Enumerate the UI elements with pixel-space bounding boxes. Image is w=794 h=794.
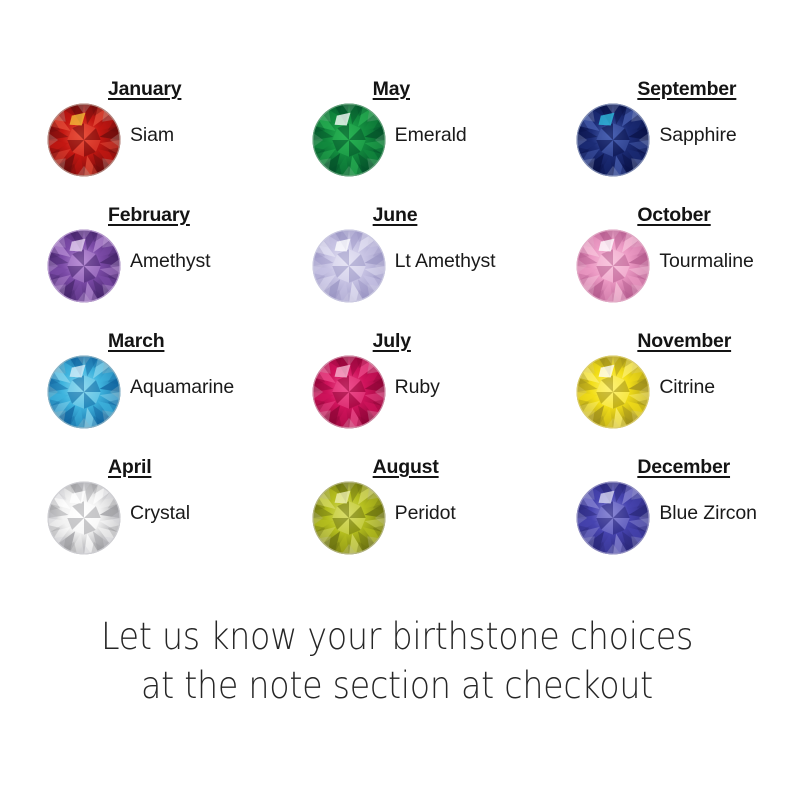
month-label-july: July bbox=[373, 330, 411, 353]
stone-label-august: Peridot bbox=[395, 502, 456, 525]
stone-label-february: Amethyst bbox=[130, 250, 210, 273]
birthstone-cell-june[interactable]: JuneLt Amethyst bbox=[265, 204, 530, 330]
month-label-may: May bbox=[373, 78, 410, 101]
birthstone-cell-july[interactable]: JulyRuby bbox=[265, 330, 530, 456]
gem-swatch-december[interactable] bbox=[575, 480, 651, 556]
footer-note: Let us know your birthstone choices at t… bbox=[40, 612, 755, 710]
gem-swatch-july[interactable] bbox=[311, 354, 387, 430]
month-label-march: March bbox=[108, 330, 164, 353]
birthstone-cell-august[interactable]: AugustPeridot bbox=[265, 456, 530, 582]
birthstone-cell-april[interactable]: AprilCrystal bbox=[0, 456, 265, 582]
month-label-september: September bbox=[637, 78, 736, 101]
stone-label-march: Aquamarine bbox=[130, 376, 234, 399]
gem-swatch-october[interactable] bbox=[575, 228, 651, 304]
gemstone-icon bbox=[575, 228, 651, 304]
gemstone-icon bbox=[311, 228, 387, 304]
footer-line-2: at the note section at checkout bbox=[40, 661, 755, 710]
stone-label-december: Blue Zircon bbox=[659, 502, 757, 525]
stone-label-october: Tourmaline bbox=[659, 250, 753, 273]
gemstone-icon bbox=[46, 480, 122, 556]
gemstone-icon bbox=[46, 102, 122, 178]
gem-swatch-february[interactable] bbox=[46, 228, 122, 304]
gem-swatch-march[interactable] bbox=[46, 354, 122, 430]
gem-swatch-september[interactable] bbox=[575, 102, 651, 178]
stone-label-september: Sapphire bbox=[659, 124, 736, 147]
gem-swatch-june[interactable] bbox=[311, 228, 387, 304]
gemstone-icon bbox=[575, 354, 651, 430]
birthstone-chart: JanuarySiamMayEmeraldSeptemberSapphireFe… bbox=[0, 0, 794, 794]
month-label-october: October bbox=[637, 204, 710, 227]
gem-swatch-january[interactable] bbox=[46, 102, 122, 178]
gemstone-icon bbox=[311, 354, 387, 430]
birthstone-cell-march[interactable]: MarchAquamarine bbox=[0, 330, 265, 456]
stone-label-april: Crystal bbox=[130, 502, 190, 525]
stone-label-january: Siam bbox=[130, 124, 174, 147]
footer-line-1: Let us know your birthstone choices bbox=[40, 612, 755, 661]
stone-label-may: Emerald bbox=[395, 124, 467, 147]
birthstone-cell-february[interactable]: FebruaryAmethyst bbox=[0, 204, 265, 330]
stone-label-june: Lt Amethyst bbox=[395, 250, 496, 273]
gemstone-icon bbox=[46, 354, 122, 430]
month-label-january: January bbox=[108, 78, 181, 101]
month-label-june: June bbox=[373, 204, 418, 227]
gemstone-icon bbox=[575, 480, 651, 556]
stone-label-november: Citrine bbox=[659, 376, 715, 399]
gem-swatch-april[interactable] bbox=[46, 480, 122, 556]
birthstone-grid: JanuarySiamMayEmeraldSeptemberSapphireFe… bbox=[0, 78, 794, 582]
gem-swatch-november[interactable] bbox=[575, 354, 651, 430]
birthstone-cell-january[interactable]: JanuarySiam bbox=[0, 78, 265, 204]
month-label-december: December bbox=[637, 456, 730, 479]
birthstone-cell-september[interactable]: SeptemberSapphire bbox=[529, 78, 794, 204]
birthstone-cell-november[interactable]: NovemberCitrine bbox=[529, 330, 794, 456]
gemstone-icon bbox=[46, 228, 122, 304]
gemstone-icon bbox=[311, 480, 387, 556]
stone-label-july: Ruby bbox=[395, 376, 440, 399]
month-label-august: August bbox=[373, 456, 439, 479]
birthstone-cell-december[interactable]: DecemberBlue Zircon bbox=[529, 456, 794, 582]
month-label-february: February bbox=[108, 204, 190, 227]
gem-swatch-may[interactable] bbox=[311, 102, 387, 178]
gem-swatch-august[interactable] bbox=[311, 480, 387, 556]
birthstone-cell-may[interactable]: MayEmerald bbox=[265, 78, 530, 204]
gemstone-icon bbox=[311, 102, 387, 178]
gemstone-icon bbox=[575, 102, 651, 178]
month-label-november: November bbox=[637, 330, 731, 353]
month-label-april: April bbox=[108, 456, 151, 479]
birthstone-cell-october[interactable]: OctoberTourmaline bbox=[529, 204, 794, 330]
